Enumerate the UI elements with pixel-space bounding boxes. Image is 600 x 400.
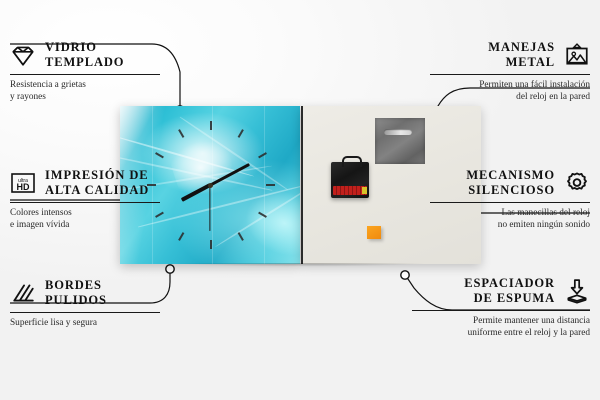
clock-tick: [238, 129, 244, 138]
diamond-icon: [10, 42, 36, 68]
clock-tick: [266, 184, 275, 186]
feature-title-line2: DE ESPUMA: [464, 291, 555, 306]
feature-title-line1: IMPRESIÓN DE: [45, 168, 149, 183]
clock-tick: [258, 212, 267, 218]
feature-manejas-metal: MANEJAS METAL Permiten una fácil instala…: [385, 40, 590, 103]
clock-tick: [155, 152, 164, 158]
clock-tick: [238, 232, 244, 241]
picture-frame-icon: [564, 42, 590, 68]
svg-text:HD: HD: [17, 182, 30, 192]
feature-title-line1: MANEJAS: [488, 40, 555, 55]
feature-divider: [10, 202, 160, 203]
feature-subtitle-line2: y rayones: [10, 91, 215, 103]
feature-impresion-alta-calidad: ultra HD IMPRESIÓN DE ALTA CALIDAD Color…: [10, 168, 215, 231]
feature-divider: [412, 310, 590, 311]
feature-title-line1: MECANISMO: [466, 168, 555, 183]
feature-mecanismo-silencioso: MECANISMO SILENCIOSO Las manecillas del …: [385, 168, 590, 231]
product-shadow: [124, 263, 476, 273]
metal-hanger-plate: [375, 118, 425, 164]
feature-divider: [10, 312, 160, 313]
hanger-keyhole-slot: [384, 129, 412, 135]
feature-subtitle-line2: uniforme entre el reloj y la pared: [385, 327, 590, 339]
feature-title-line1: VIDRIO: [45, 40, 124, 55]
clock-tick: [178, 232, 184, 241]
mechanism-hanging-loop: [342, 156, 362, 167]
feature-subtitle-line1: Permite mantener una distancia: [385, 315, 590, 327]
gear-icon: [564, 170, 590, 196]
feature-subtitle-line2: del reloj en la pared: [385, 91, 590, 103]
feature-title-line1: ESPACIADOR: [464, 276, 555, 291]
feature-title-line2: PULIDOS: [45, 293, 107, 308]
feature-title-line1: BORDES: [45, 278, 107, 293]
feature-subtitle-line1: Colores intensos: [10, 207, 215, 219]
feature-title-line2: SILENCIOSO: [466, 183, 555, 198]
feature-espaciador-espuma: ESPACIADOR DE ESPUMA Permite mantener un…: [385, 276, 590, 339]
feature-subtitle-line1: Resistencia a grietas: [10, 79, 215, 91]
spacer-arrow-icon: [564, 278, 590, 304]
infographic-stage: VIDRIO TEMPLADO Resistencia a grietas y …: [0, 0, 600, 400]
ultra-hd-icon: ultra HD: [10, 170, 36, 196]
clock-tick: [210, 240, 212, 249]
feature-divider: [10, 74, 160, 75]
foam-spacer-pad: [367, 226, 381, 239]
clock-mechanism: [331, 162, 369, 198]
feature-title-line2: ALTA CALIDAD: [45, 183, 149, 198]
feature-title-line2: TEMPLADO: [45, 55, 124, 70]
feature-divider: [430, 74, 590, 75]
feature-bordes-pulidos: BORDES PULIDOS Superficie lisa y segura: [10, 278, 215, 329]
clock-minute-hand: [209, 163, 249, 186]
feature-vidrio-templado: VIDRIO TEMPLADO Resistencia a grietas y …: [10, 40, 215, 103]
feature-subtitle-line1: Permiten una fácil instalación: [385, 79, 590, 91]
feature-subtitle-line1: Superficie lisa y segura: [10, 317, 215, 329]
feature-subtitle-line2: e imagen vívida: [10, 219, 215, 231]
feature-divider: [430, 202, 590, 203]
clock-tick: [258, 152, 267, 158]
battery-terminal: [362, 187, 367, 194]
clock-tick: [210, 121, 212, 130]
feature-subtitle-line1: Las manecillas del reloj: [385, 207, 590, 219]
polished-edges-icon: [10, 280, 36, 306]
clock-tick: [178, 129, 184, 138]
feature-title-line2: METAL: [488, 55, 555, 70]
feature-subtitle-line2: no emiten ningún sonido: [385, 219, 590, 231]
